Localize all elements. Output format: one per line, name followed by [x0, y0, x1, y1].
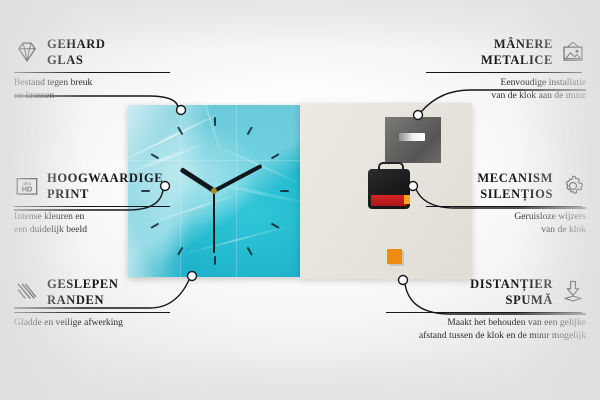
- mechanism-bracket: [378, 162, 404, 173]
- feature-title-line1: MÂNERE: [481, 36, 553, 52]
- feature-header: MECANISM SILENȚIOS: [426, 170, 586, 202]
- feature-title: HOOGWAARDIGE PRINT: [47, 170, 163, 202]
- feature-description: Maakt het behouden van een gelijke afsta…: [386, 317, 586, 342]
- feature-desc-line2: afstand tussen de klok en de muur mogeli…: [386, 330, 586, 343]
- feature-header: GESLEPEN RANDEN: [14, 276, 174, 308]
- feature-desc-line1: Maakt het behouden van een gelijke: [386, 317, 586, 330]
- picture-hanger-icon: [560, 39, 586, 65]
- feature-header: GEHARD GLAS: [14, 36, 174, 68]
- feature-desc-line2: van de klok aan de muur: [426, 90, 586, 103]
- feature-rule: [386, 312, 582, 313]
- feature-title-line1: MECANISM: [477, 170, 553, 186]
- hour-tick: [177, 247, 183, 256]
- diamond-icon: [14, 39, 40, 65]
- feature-title: GEHARD GLAS: [47, 36, 105, 68]
- feature-desc-line1: Bestand tegen breuk: [14, 77, 174, 90]
- feature-desc-line1: Eenvoudige installatie: [426, 77, 586, 90]
- battery-terminal: [404, 195, 410, 204]
- feature-title-line2: SILENȚIOS: [477, 186, 553, 202]
- feature-title-line2: METALICE: [481, 52, 553, 68]
- feature-rule: [14, 206, 170, 207]
- feature-rule: [426, 72, 582, 73]
- hour-tick: [271, 153, 280, 159]
- hour-tick: [280, 190, 289, 192]
- feature-description: Gladde en veilige afwerking: [14, 317, 174, 330]
- feature-description: Eenvoudige installatie van de klok aan d…: [426, 77, 586, 102]
- feature-description: Intense kleuren en een duidelijk beeld: [14, 211, 174, 236]
- feature-hoogwaardige-print: ultra HD HOOGWAARDIGE PRINT Intense kleu…: [14, 170, 174, 236]
- feature-title: MÂNERE METALICE: [481, 36, 553, 68]
- feature-title-line1: HOOGWAARDIGE: [47, 170, 163, 186]
- feature-title-line2: GLAS: [47, 52, 105, 68]
- feature-title: DISTANȚIER SPUMĂ: [470, 276, 553, 308]
- feature-desc-line1: Gladde en veilige afwerking: [14, 317, 174, 330]
- feature-distantier-spuma: DISTANȚIER SPUMĂ Maakt het behouden van …: [386, 276, 586, 342]
- hour-tick: [247, 126, 253, 135]
- product-image: [128, 105, 472, 277]
- feature-header: DISTANȚIER SPUMĂ: [386, 276, 586, 308]
- feature-geslepen-randen: GESLEPEN RANDEN Gladde en veilige afwerk…: [14, 276, 174, 330]
- hour-tick: [214, 117, 216, 126]
- feature-desc-line2: van de klok: [426, 224, 586, 237]
- feature-desc-line1: Geruisloze wijzers: [426, 211, 586, 224]
- feature-title-line2: RANDEN: [47, 292, 119, 308]
- hour-tick: [177, 126, 183, 135]
- beveled-edges-icon: [14, 279, 40, 305]
- feature-header: ultra HD HOOGWAARDIGE PRINT: [14, 170, 174, 202]
- clock-hub: [211, 188, 217, 194]
- feature-description: Bestand tegen breuk en krassen: [14, 77, 174, 102]
- feature-rule: [426, 206, 582, 207]
- feature-description: Geruisloze wijzers van de klok: [426, 211, 586, 236]
- second-hand: [213, 191, 215, 253]
- minute-hand: [213, 164, 263, 193]
- hour-tick: [247, 247, 253, 256]
- feature-title-line1: GEHARD: [47, 36, 105, 52]
- feature-desc-line2: en krassen: [14, 90, 174, 103]
- metal-hanger: [385, 117, 441, 163]
- foam-spacer: [387, 249, 402, 264]
- feature-rule: [14, 72, 170, 73]
- spacer-arrow-icon: [560, 279, 586, 305]
- hour-hand: [179, 167, 215, 193]
- feature-manere-metalice: MÂNERE METALICE Eenvoudige installatie v…: [426, 36, 586, 102]
- feature-title: MECANISM SILENȚIOS: [477, 170, 553, 202]
- ultra-hd-icon: ultra HD: [14, 173, 40, 199]
- svg-text:HD: HD: [22, 185, 33, 194]
- feature-mecanism-silentios: MECANISM SILENȚIOS Geruisloze wijzers va…: [426, 170, 586, 236]
- hour-tick: [214, 256, 216, 265]
- feature-desc-line2: een duidelijk beeld: [14, 224, 174, 237]
- feature-title-line1: GESLEPEN: [47, 276, 119, 292]
- hour-tick: [150, 153, 159, 159]
- gear-icon: [560, 173, 586, 199]
- clock-mechanism: [368, 169, 410, 209]
- infographic-canvas: GEHARD GLAS Bestand tegen breuk en krass…: [0, 0, 600, 400]
- battery: [371, 195, 407, 206]
- hanger-slot: [399, 133, 425, 141]
- feature-header: MÂNERE METALICE: [426, 36, 586, 68]
- feature-title-line2: PRINT: [47, 186, 163, 202]
- feature-title-line1: DISTANȚIER: [470, 276, 553, 292]
- feature-desc-line1: Intense kleuren en: [14, 211, 174, 224]
- feature-gehard-glas: GEHARD GLAS Bestand tegen breuk en krass…: [14, 36, 174, 102]
- feature-title: GESLEPEN RANDEN: [47, 276, 119, 308]
- hour-tick: [271, 223, 280, 229]
- feature-rule: [14, 312, 170, 313]
- feature-title-line2: SPUMĂ: [470, 292, 553, 308]
